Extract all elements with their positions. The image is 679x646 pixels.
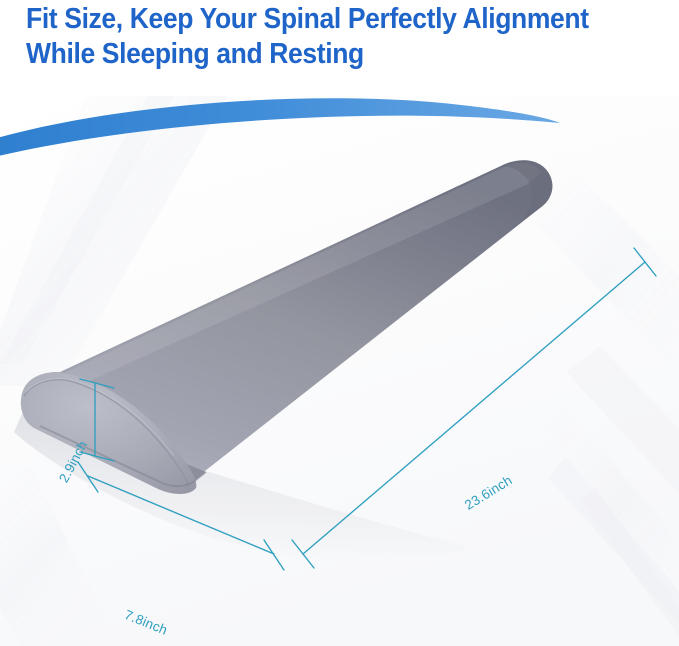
product-illustration [0, 96, 679, 646]
page-title: Fit Size, Keep Your Spinal Perfectly Ali… [26, 2, 621, 72]
product-infographic: Fit Size, Keep Your Spinal Perfectly Ali… [0, 0, 679, 646]
product-photo: 2.9inch 7.8inch 23.6inch [0, 96, 679, 646]
